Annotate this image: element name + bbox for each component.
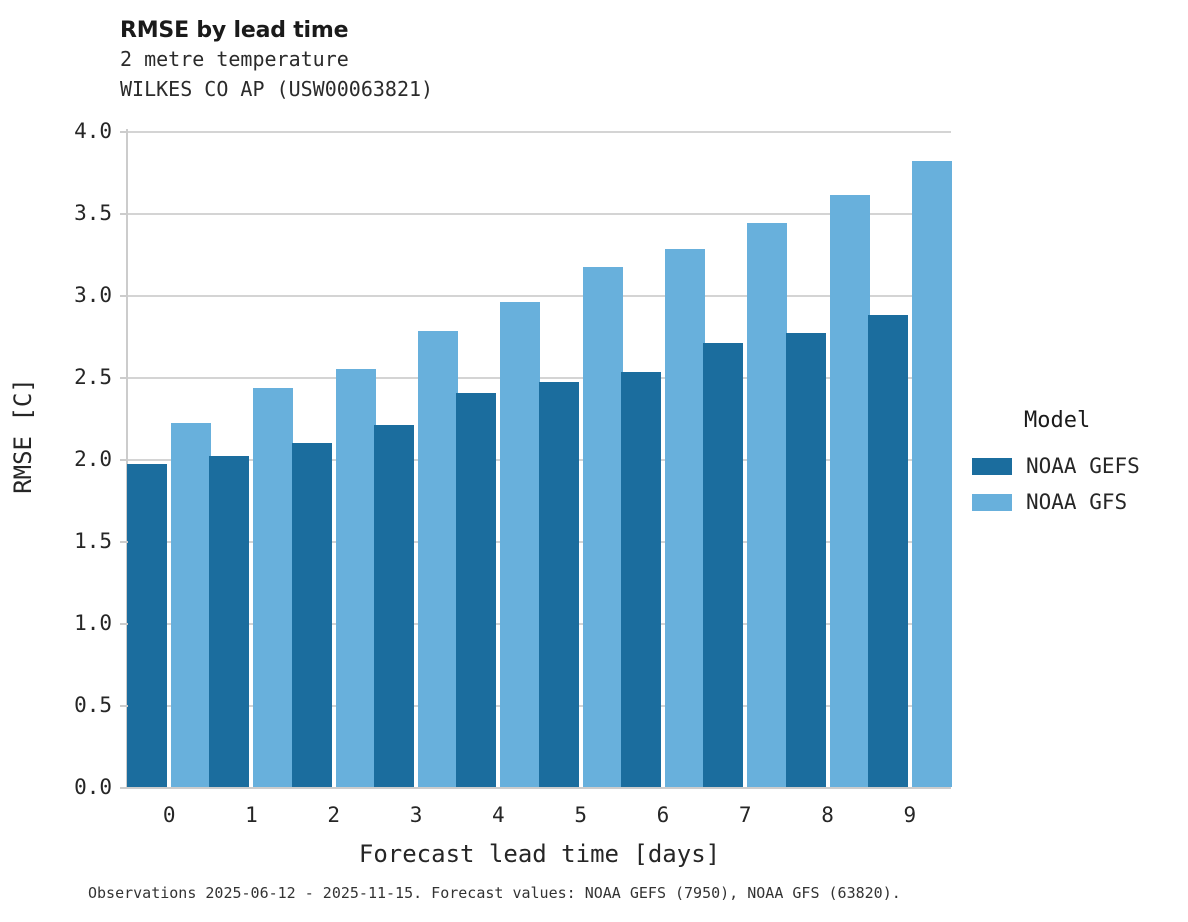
bar-noaa-gefs-day-7[interactable] xyxy=(703,343,743,787)
page-title: RMSE by lead time xyxy=(120,18,950,44)
chart-subtitle-station: WILKES CO AP (USW00063821) xyxy=(120,74,950,104)
bar-group xyxy=(621,131,705,787)
y-tick-mark xyxy=(120,295,128,297)
legend-swatch xyxy=(972,494,1012,511)
y-tick-mark xyxy=(120,459,128,461)
legend-label: NOAA GEFS xyxy=(1026,454,1140,478)
bar-group xyxy=(786,131,870,787)
y-tick-mark xyxy=(120,623,128,625)
x-tick-label: 4 xyxy=(468,803,528,827)
y-tick-mark xyxy=(120,131,128,133)
y-tick-mark xyxy=(120,705,128,707)
legend-item[interactable]: NOAA GEFS xyxy=(972,449,1182,483)
legend-label: NOAA GFS xyxy=(1026,490,1127,514)
bar-noaa-gfs-day-6[interactable] xyxy=(665,249,705,787)
y-tick-label: 4.0 xyxy=(40,119,112,143)
y-tick-label: 3.5 xyxy=(40,201,112,225)
plot-area xyxy=(128,131,951,787)
y-tick-label: 2.5 xyxy=(40,365,112,389)
bar-noaa-gefs-day-9[interactable] xyxy=(868,315,908,787)
bar-noaa-gefs-day-2[interactable] xyxy=(292,443,332,787)
bar-group xyxy=(868,131,952,787)
bar-noaa-gfs-day-5[interactable] xyxy=(583,267,623,787)
footer-note: Observations 2025-06-12 - 2025-11-15. Fo… xyxy=(88,884,901,902)
bar-noaa-gfs-day-8[interactable] xyxy=(830,195,870,787)
bar-group xyxy=(374,131,458,787)
bar-noaa-gfs-day-7[interactable] xyxy=(747,223,787,787)
chart-page: RMSE by lead time 2 metre temperature WI… xyxy=(0,0,1188,922)
y-tick-mark xyxy=(120,787,128,789)
title-block: RMSE by lead time 2 metre temperature WI… xyxy=(120,18,950,104)
bar-noaa-gfs-day-9[interactable] xyxy=(912,161,952,787)
bar-group xyxy=(456,131,540,787)
x-tick-label: 2 xyxy=(304,803,364,827)
y-tick-label: 0.5 xyxy=(40,693,112,717)
bar-noaa-gefs-day-3[interactable] xyxy=(374,425,414,787)
y-tick-mark xyxy=(120,213,128,215)
y-tick-label: 1.0 xyxy=(40,611,112,635)
bar-noaa-gefs-day-1[interactable] xyxy=(209,456,249,787)
bar-group xyxy=(703,131,787,787)
x-tick-label: 5 xyxy=(551,803,611,827)
bar-noaa-gefs-day-5[interactable] xyxy=(539,382,579,787)
y-tick-label: 1.5 xyxy=(40,529,112,553)
bar-noaa-gfs-day-1[interactable] xyxy=(253,388,293,787)
legend-title: Model xyxy=(1024,408,1182,433)
bar-group xyxy=(209,131,293,787)
bar-noaa-gfs-day-3[interactable] xyxy=(418,331,458,787)
bar-group xyxy=(539,131,623,787)
legend-swatch xyxy=(972,458,1012,475)
x-tick-label: 3 xyxy=(386,803,446,827)
bar-noaa-gfs-day-0[interactable] xyxy=(171,423,211,787)
bar-group xyxy=(292,131,376,787)
y-tick-label: 2.0 xyxy=(40,447,112,471)
bar-noaa-gefs-day-0[interactable] xyxy=(127,464,167,787)
legend-entries: NOAA GEFSNOAA GFS xyxy=(972,449,1182,519)
x-tick-label: 1 xyxy=(221,803,281,827)
y-axis-title: RMSE [C] xyxy=(9,366,37,506)
legend-item[interactable]: NOAA GFS xyxy=(972,485,1182,519)
bar-group xyxy=(127,131,211,787)
y-tick-label: 3.0 xyxy=(40,283,112,307)
bar-noaa-gfs-day-4[interactable] xyxy=(500,302,540,787)
x-tick-label: 7 xyxy=(715,803,775,827)
bar-noaa-gefs-day-4[interactable] xyxy=(456,393,496,787)
bar-noaa-gefs-day-8[interactable] xyxy=(786,333,826,787)
chart-subtitle-variable: 2 metre temperature xyxy=(120,44,950,74)
bar-noaa-gfs-day-2[interactable] xyxy=(336,369,376,787)
legend: Model NOAA GEFSNOAA GFS xyxy=(972,408,1182,521)
x-tick-label: 9 xyxy=(880,803,940,827)
x-tick-label: 0 xyxy=(139,803,199,827)
y-tick-label: 0.0 xyxy=(40,775,112,799)
x-axis-baseline xyxy=(126,787,951,789)
bar-noaa-gefs-day-6[interactable] xyxy=(621,372,661,787)
y-tick-mark xyxy=(120,541,128,543)
x-axis-title: Forecast lead time [days] xyxy=(128,840,951,868)
y-tick-mark xyxy=(120,377,128,379)
x-tick-label: 8 xyxy=(798,803,858,827)
x-tick-label: 6 xyxy=(633,803,693,827)
y-axis-ticks: 0.00.51.01.52.02.53.03.54.0 xyxy=(30,0,112,922)
